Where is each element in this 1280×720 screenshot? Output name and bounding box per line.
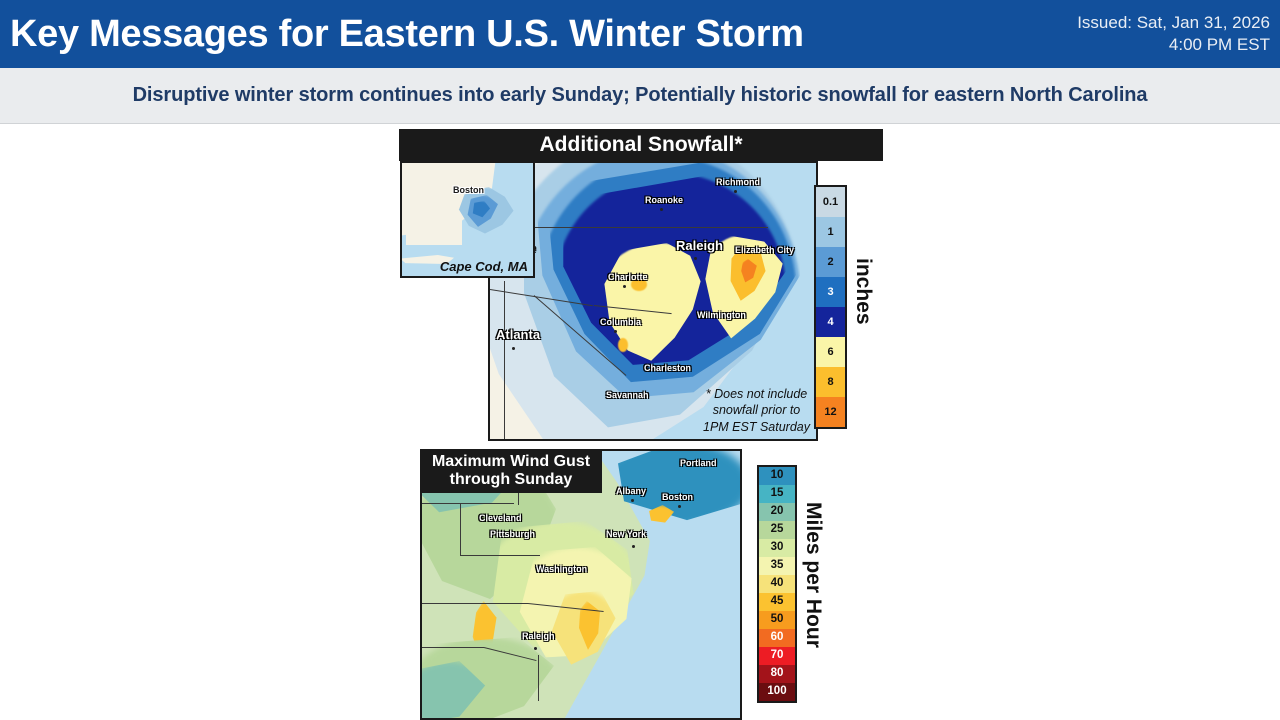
wind-state-line-i bbox=[538, 655, 539, 701]
wind-legend-cell-100: 100 bbox=[759, 683, 795, 701]
wind-city-dot-albany bbox=[631, 499, 634, 502]
wind-city-label-washington: Washington bbox=[536, 564, 587, 574]
wind-city-label-cleveland: Cleveland bbox=[479, 513, 522, 523]
wind-legend-cell-20: 20 bbox=[759, 503, 795, 521]
city-label-atlanta: Atlanta bbox=[496, 327, 540, 342]
snow-legend-cell-0p1: 0.1 bbox=[816, 187, 845, 217]
city-dot-raleigh bbox=[694, 257, 697, 260]
state-line-ga-west bbox=[504, 281, 505, 439]
cape-cod-inset-map: Boston Cape Cod, MA bbox=[400, 161, 535, 278]
inset-city-label-boston: Boston bbox=[453, 185, 484, 195]
header-bar: Key Messages for Eastern U.S. Winter Sto… bbox=[0, 0, 1280, 68]
wind-title-line-2: through Sunday bbox=[432, 471, 590, 489]
wind-city-label-albany: Albany bbox=[616, 486, 646, 496]
snow-legend-cell-2: 2 bbox=[816, 247, 845, 277]
city-label-raleigh: Raleigh bbox=[676, 238, 723, 253]
city-label-columbia: Columbia bbox=[600, 317, 641, 327]
wind-legend-axis-label: Miles per Hour bbox=[801, 502, 825, 648]
wind-gust-legend: 10 15 20 25 30 35 40 45 50 60 70 80 100 bbox=[757, 465, 797, 703]
city-dot-columbia bbox=[614, 330, 617, 333]
wind-city-label-raleigh: Raleigh bbox=[522, 631, 555, 641]
wind-legend-cell-30: 30 bbox=[759, 539, 795, 557]
issued-time: 4:00 PM EST bbox=[1077, 34, 1270, 56]
inset-region-label: Cape Cod, MA bbox=[440, 259, 528, 274]
wind-state-line-g bbox=[422, 647, 484, 648]
snow-legend-cell-6: 6 bbox=[816, 337, 845, 367]
wind-state-line-c bbox=[460, 555, 540, 556]
wind-city-label-new-york: New York bbox=[606, 529, 646, 539]
wind-legend-cell-35: 35 bbox=[759, 557, 795, 575]
footnote-line-2: snowfall prior to bbox=[703, 402, 810, 419]
wind-city-dot-new-york bbox=[632, 545, 635, 548]
wind-state-line-a bbox=[422, 503, 514, 504]
city-label-wilmington: Wilmington bbox=[697, 310, 746, 320]
snowfall-panel-title: Additional Snowfall* bbox=[399, 129, 883, 161]
city-dot-atlanta bbox=[512, 347, 515, 350]
snow-contour-8-lowcountry bbox=[618, 338, 628, 352]
footnote-line-3: 1PM EST Saturday bbox=[703, 419, 810, 436]
subtitle-bar: Disruptive winter storm continues into e… bbox=[0, 68, 1280, 124]
snow-legend-cell-3: 3 bbox=[816, 277, 845, 307]
page-title: Key Messages for Eastern U.S. Winter Sto… bbox=[0, 15, 804, 53]
wind-city-dot-raleigh bbox=[534, 647, 537, 650]
issued-timestamp: Issued: Sat, Jan 31, 2026 4:00 PM EST bbox=[1077, 12, 1280, 56]
snow-legend-cell-8: 8 bbox=[816, 367, 845, 397]
city-label-savannah: Savannah bbox=[606, 390, 649, 400]
wind-legend-cell-60: 60 bbox=[759, 629, 795, 647]
city-label-charlotte: Charlotte bbox=[608, 272, 648, 282]
footnote-line-1: * Does not include bbox=[703, 386, 810, 403]
city-dot-richmond bbox=[734, 190, 737, 193]
city-label-elizabeth-city: Elizabeth City bbox=[735, 245, 794, 255]
inset-land-ri-ct bbox=[406, 207, 462, 245]
subtitle-text: Disruptive winter storm continues into e… bbox=[133, 84, 1148, 107]
city-label-charleston: Charleston bbox=[644, 363, 691, 373]
snowfall-footnote: * Does not include snowfall prior to 1PM… bbox=[703, 386, 810, 436]
snow-legend-cell-4: 4 bbox=[816, 307, 845, 337]
wind-legend-cell-50: 50 bbox=[759, 611, 795, 629]
snowfall-legend: 0.1 1 2 3 4 6 8 12 bbox=[814, 185, 847, 429]
wind-gust-panel-title: Maximum Wind Gust through Sunday bbox=[420, 449, 602, 493]
wind-city-label-portland: Portland bbox=[680, 458, 717, 468]
wind-legend-cell-10: 10 bbox=[759, 467, 795, 485]
city-label-roanoke: Roanoke bbox=[645, 195, 683, 205]
city-dot-roanoke bbox=[660, 208, 663, 211]
issued-date: Issued: Sat, Jan 31, 2026 bbox=[1077, 12, 1270, 34]
snowfall-legend-axis-label: inches bbox=[851, 258, 875, 325]
wind-title-line-1: Maximum Wind Gust bbox=[432, 453, 590, 471]
snowfall-map: Roanoke Richmond Elizabeth City Raleigh … bbox=[488, 161, 818, 441]
key-messages-graphic: Key Messages for Eastern U.S. Winter Sto… bbox=[0, 0, 1280, 720]
wind-city-label-boston: Boston bbox=[662, 492, 693, 502]
city-dot-charlotte bbox=[623, 285, 626, 288]
snow-legend-cell-1: 1 bbox=[816, 217, 845, 247]
wind-legend-cell-80: 80 bbox=[759, 665, 795, 683]
city-label-richmond: Richmond bbox=[716, 177, 760, 187]
wind-legend-cell-70: 70 bbox=[759, 647, 795, 665]
wind-legend-cell-40: 40 bbox=[759, 575, 795, 593]
wind-state-line-b bbox=[460, 503, 461, 555]
wind-legend-cell-45: 45 bbox=[759, 593, 795, 611]
wind-city-label-pittsburgh: Pittsburgh bbox=[490, 529, 535, 539]
snow-legend-cell-12: 12 bbox=[816, 397, 845, 427]
wind-state-line-e bbox=[422, 603, 528, 604]
wind-legend-cell-25: 25 bbox=[759, 521, 795, 539]
wind-legend-cell-15: 15 bbox=[759, 485, 795, 503]
wind-city-dot-boston bbox=[678, 505, 681, 508]
